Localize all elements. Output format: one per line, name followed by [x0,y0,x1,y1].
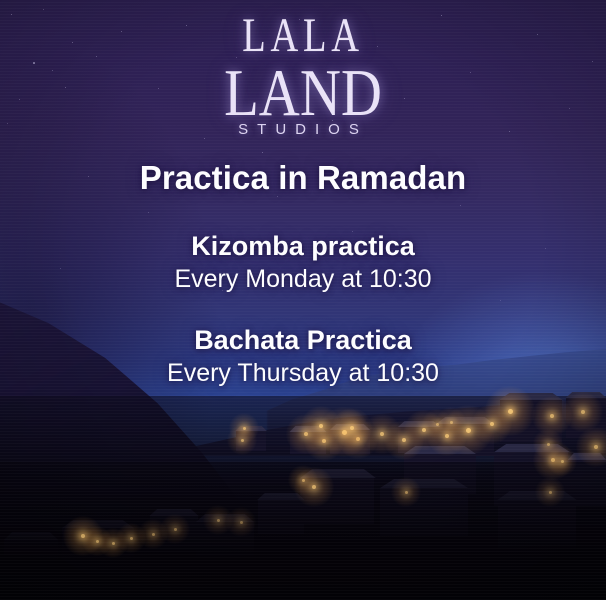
street-lamp-light [322,439,326,443]
street-lamp-light [342,430,347,435]
brand-logo: LALA LAND STUDIOS [0,12,606,138]
street-lamp-light [450,421,453,424]
street-lamp-light [81,534,85,538]
street-lamp-light [130,537,133,540]
event-section-bachata: Bachata Practica Every Thursday at 10:30 [0,325,606,388]
street-lamp-light [445,434,449,438]
street-lamp-light [551,458,555,462]
street-lamp-light [547,443,550,446]
page-title: Practica in Ramadan [0,160,606,197]
event-schedule-kizomba: Every Monday at 10:30 [0,264,606,294]
event-title-bachata: Bachata Practica [0,325,606,357]
logo-line-land: LAND [6,62,600,123]
street-lamp-light [594,445,598,449]
street-lamp-light [380,432,384,436]
street-lamp-light [436,423,439,426]
street-lamp-light [508,409,513,414]
street-lamp-light [466,428,471,433]
street-lamp-light [422,428,426,432]
street-lamp-light [549,491,552,494]
street-lamp-light [581,410,585,414]
logo-line-lala: LALA [12,12,594,59]
street-lamp-light [152,533,155,536]
street-lamp-light [217,519,220,522]
foreground-darkness [0,462,606,600]
street-lamp-light [402,438,406,442]
street-lamp-light [174,528,177,531]
event-title-kizomba: Kizomba practica [0,231,606,263]
event-schedule-bachata: Every Thursday at 10:30 [0,358,606,388]
street-lamp-light [96,540,99,543]
street-lamp-light [302,479,305,482]
street-lamp-light [356,437,360,441]
street-lamp-light [304,432,308,436]
building-silhouette [330,430,370,454]
street-lamp-light [490,422,494,426]
building-silhouette [500,400,562,442]
street-lamp-light [112,542,115,545]
street-lamp-light [319,424,323,428]
street-lamp-light [561,460,564,463]
street-lamp-light [241,439,244,442]
street-lamp-light [243,427,246,430]
street-lamp-light [405,491,408,494]
promo-flyer: LALA LAND STUDIOS Practica in Ramadan Ki… [0,0,606,600]
street-lamp-light [550,414,554,418]
street-lamp-light [312,485,316,489]
building-silhouette [566,398,606,438]
building-silhouette [290,432,326,454]
street-lamp-light [350,426,354,430]
event-section-kizomba: Kizomba practica Every Monday at 10:30 [0,231,606,294]
event-copy: Practica in Ramadan Kizomba practica Eve… [0,160,606,388]
street-lamp-light [240,521,243,524]
